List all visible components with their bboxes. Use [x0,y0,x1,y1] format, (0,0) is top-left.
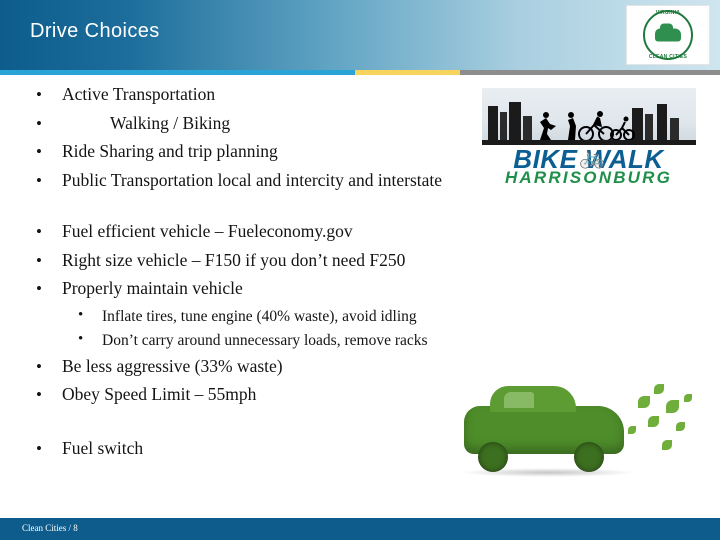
bullet-icon: • [36,358,42,375]
grass-car-shadow [460,468,636,477]
list-item: • Public Transportation local and interc… [0,172,720,190]
logo-top-text: VIRGINIA [627,10,709,16]
footer-label: Clean Cities / 8 [22,523,78,533]
list-item-label: Be less aggressive (33% waste) [62,356,283,376]
list-item-label: Public Transportation local and intercit… [62,170,442,190]
list-item-label: Properly maintain vehicle [62,278,243,298]
list-item-label: Obey Speed Limit – 55mph [62,384,256,404]
bullet-icon: • [36,223,42,240]
sub-list-item: • Don’t carry around unnecessary loads, … [0,333,720,349]
bullet-icon: • [36,172,42,189]
bullet-icon: • [36,143,42,160]
virginia-clean-cities-logo: VIRGINIA CLEAN CITIES [626,5,710,65]
page-title: Drive Choices [30,20,160,43]
slide-header: Drive Choices [0,0,720,70]
list-item: • Fuel efficient vehicle – Fueleconomy.g… [0,223,720,241]
list-item-label: Active Transportation [62,84,215,104]
bullet-icon: • [36,280,42,297]
list-item-label: Fuel switch [62,438,143,458]
header-rule [0,70,720,75]
list-item: • Be less aggressive (33% waste) [0,358,720,376]
list-item-label: Walking / Biking [110,113,230,133]
bullet-icon: • [78,332,83,347]
list-spacer [0,200,720,223]
sub-list-item-label: Inflate tires, tune engine (40% waste), … [102,308,417,325]
list-item-label: Right size vehicle – F150 if you don’t n… [62,250,405,270]
green-car-icon [655,29,681,42]
list-item: • Right size vehicle – F150 if you don’t… [0,252,720,270]
bullet-icon: • [36,252,42,269]
list-item: • Fuel switch [0,440,720,458]
bullet-icon: • [36,386,42,403]
bullet-icon: • [36,86,42,103]
bullet-icon: • [36,440,42,457]
list-item: • Walking / Biking [0,115,720,133]
header-rule-blue-segment [0,70,355,75]
list-item: • Active Transportation [0,86,720,104]
list-item: • Properly maintain vehicle [0,280,720,298]
slide: Drive Choices VIRGINIA CLEAN CITIES [0,0,720,540]
bullet-icon: • [36,115,42,132]
list-spacer [0,415,720,440]
slide-footer: Clean Cities / 8 [0,518,720,540]
sub-list-item: • Inflate tires, tune engine (40% waste)… [0,309,720,325]
header-rule-gold-segment [355,70,460,75]
slide-body: • Active Transportation • Walking / Biki… [0,86,720,468]
list-item: • Ride Sharing and trip planning [0,143,720,161]
list-item-label: Fuel efficient vehicle – Fueleconomy.gov [62,221,353,241]
bullet-icon: • [78,308,83,323]
list-item-label: Ride Sharing and trip planning [62,141,278,161]
logo-bottom-text: CLEAN CITIES [627,54,709,60]
list-item: • Obey Speed Limit – 55mph [0,386,720,404]
sub-list-item-label: Don’t carry around unnecessary loads, re… [102,332,428,349]
